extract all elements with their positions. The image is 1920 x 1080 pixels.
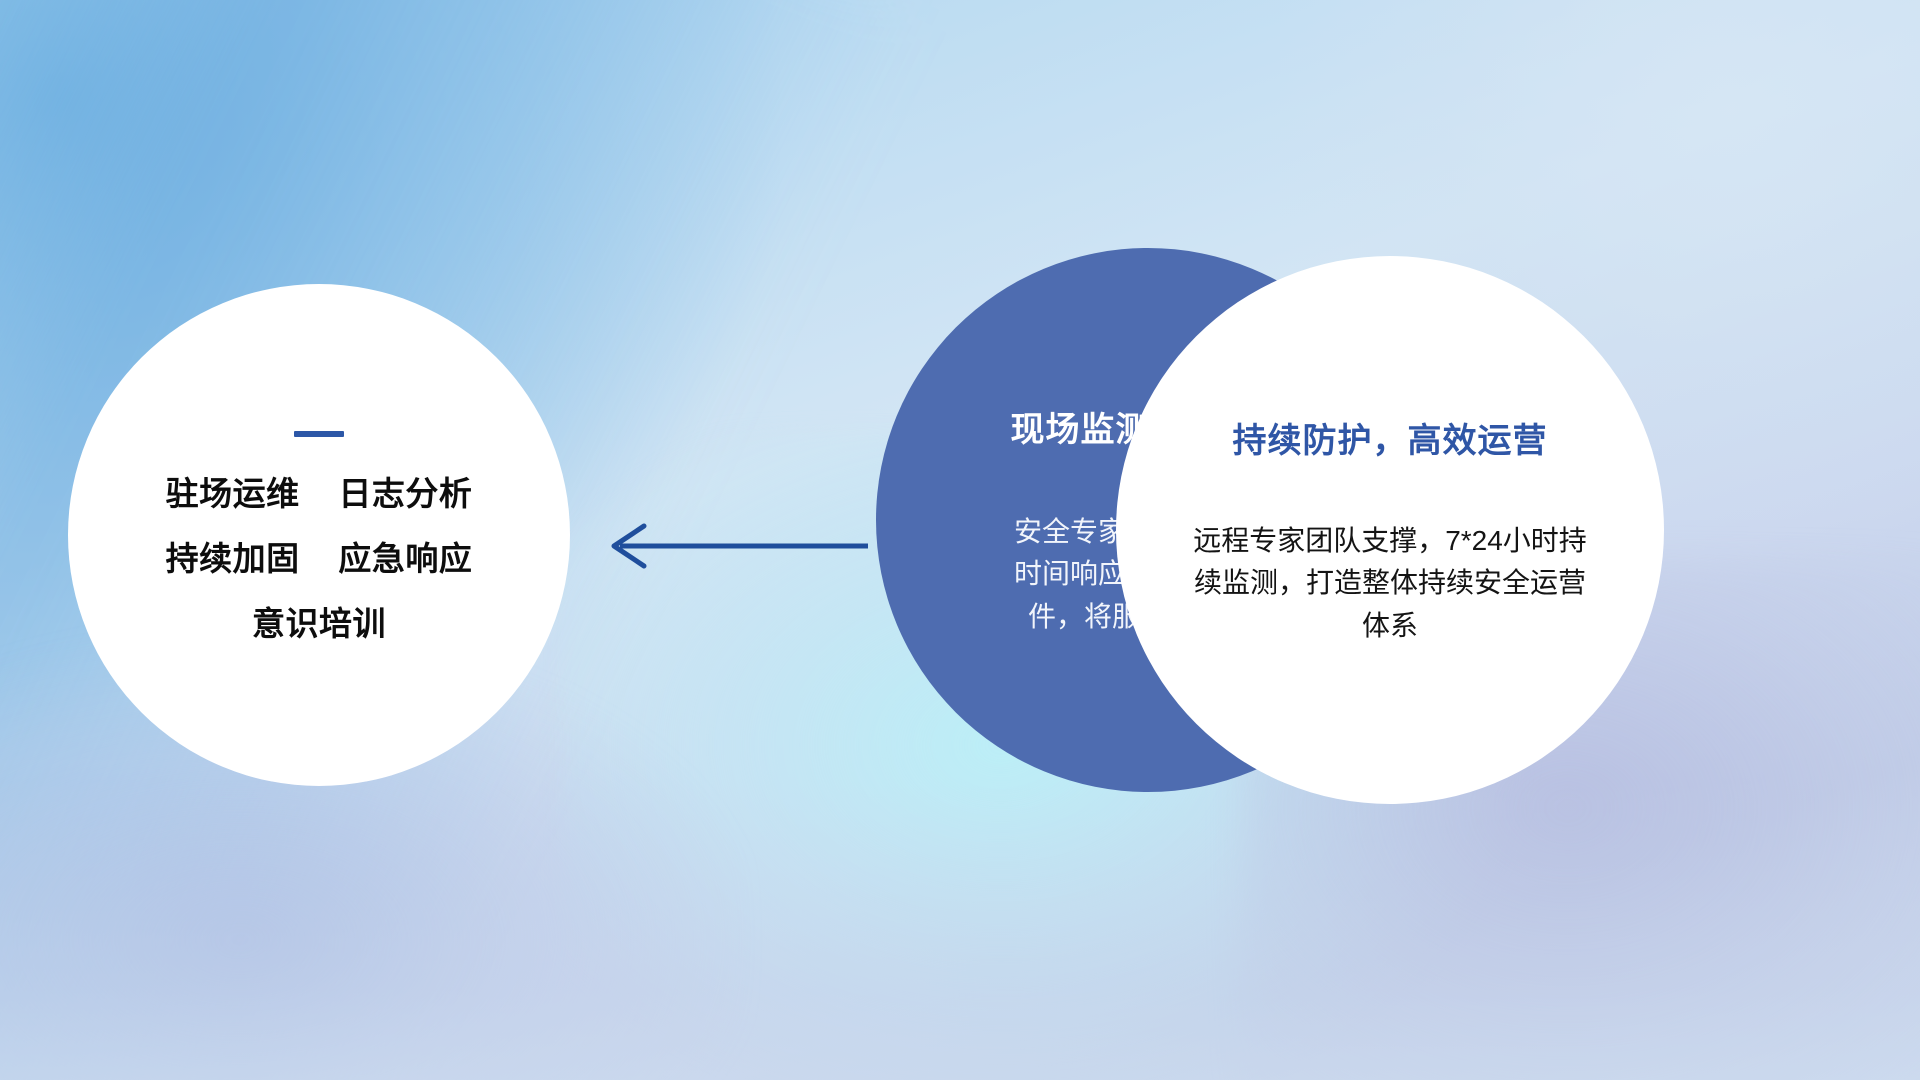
slide-canvas: 现场监测，快速响应 安全专家现场保障，最短时间响应突发网络安全事件，将服务效率最… [0,0,1920,1080]
accent-divider-dash [294,431,344,437]
circle-service-capabilities-content: 驻场运维 日志分析 持续加固 应急响应 意识培训 [68,431,570,640]
continuous-protection-heading: 持续防护，高效运营 [1175,413,1605,462]
circle-continuous-protection[interactable]: 持续防护，高效运营 远程专家团队支撑，7*24小时持续监测，打造整体持续安全运营… [1116,256,1664,804]
arrow-left-icon [600,520,870,572]
background-bottom-haze [0,780,1920,1080]
capability-line-3: 意识培训 [68,607,570,640]
circle-continuous-protection-content: 持续防护，高效运营 远程专家团队支撑，7*24小时持续监测，打造整体持续安全运营… [1175,413,1605,648]
capability-line-2: 持续加固 应急响应 [68,542,570,575]
circle-service-capabilities[interactable]: 驻场运维 日志分析 持续加固 应急响应 意识培训 [68,284,570,786]
capability-line-1: 驻场运维 日志分析 [68,477,570,510]
continuous-protection-body: 远程专家团队支撑，7*24小时持续监测，打造整体持续安全运营体系 [1190,520,1590,648]
